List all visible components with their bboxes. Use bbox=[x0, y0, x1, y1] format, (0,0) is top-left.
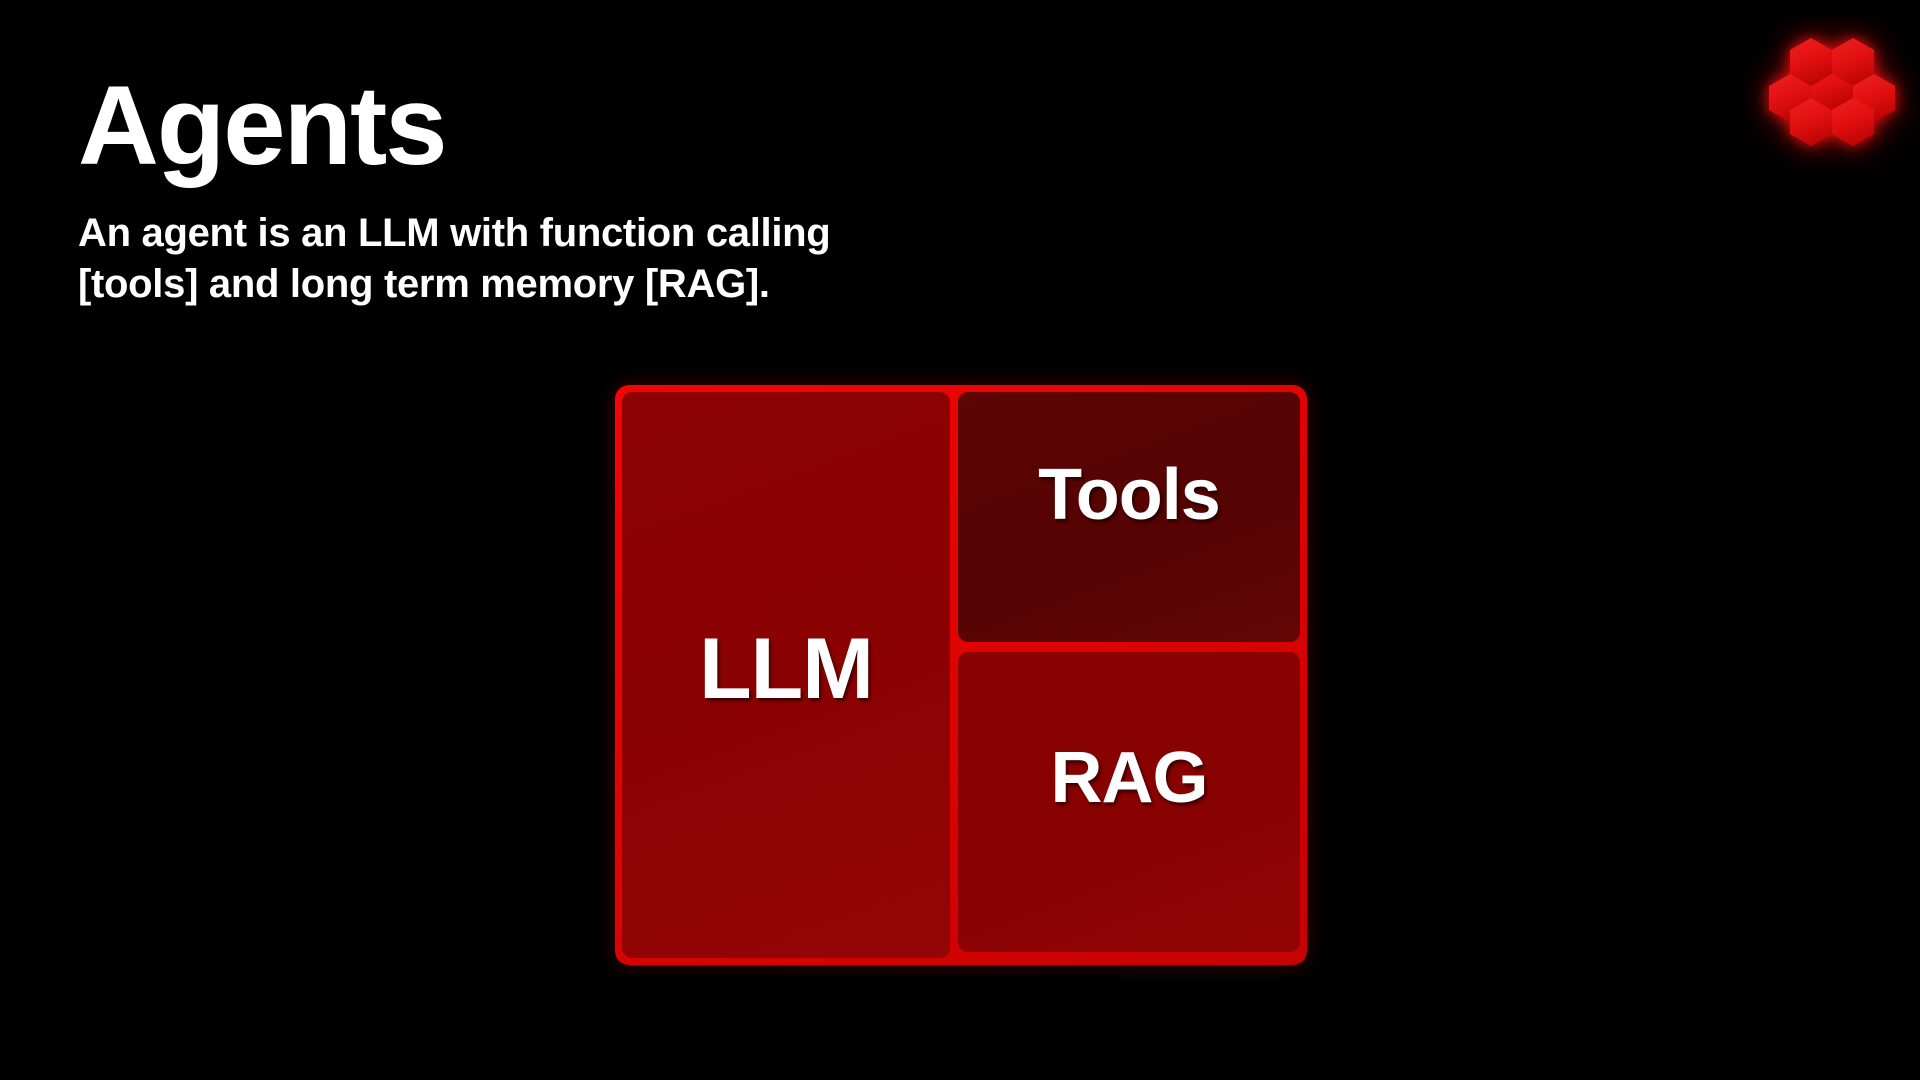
diagram-panel-rag[interactable]: RAG bbox=[958, 652, 1300, 952]
diagram-right-column: Tools RAG bbox=[958, 392, 1300, 958]
subtitle-line-2: [tools] and long term memory [RAG]. bbox=[78, 259, 1038, 310]
hexagon-flower-logo bbox=[1762, 18, 1902, 150]
subtitle-line-1: An agent is an LLM with function calling bbox=[78, 208, 1038, 259]
slide-canvas: Agents An agent is an LLM with function … bbox=[0, 0, 1920, 1080]
panel-label-llm: LLM bbox=[699, 626, 873, 712]
panel-label-rag: RAG bbox=[1051, 742, 1208, 814]
diagram-panel-tools[interactable]: Tools bbox=[958, 392, 1300, 642]
page-title: Agents bbox=[78, 70, 1178, 182]
agent-architecture-diagram: LLM Tools RAG bbox=[615, 385, 1307, 965]
panel-label-tools: Tools bbox=[1038, 459, 1220, 531]
hexagon-flower-icon bbox=[1762, 18, 1902, 150]
title-block: Agents An agent is an LLM with function … bbox=[78, 70, 1178, 310]
slide-subtitle: An agent is an LLM with function calling… bbox=[78, 208, 1038, 310]
diagram-panel-llm[interactable]: LLM bbox=[622, 392, 950, 958]
